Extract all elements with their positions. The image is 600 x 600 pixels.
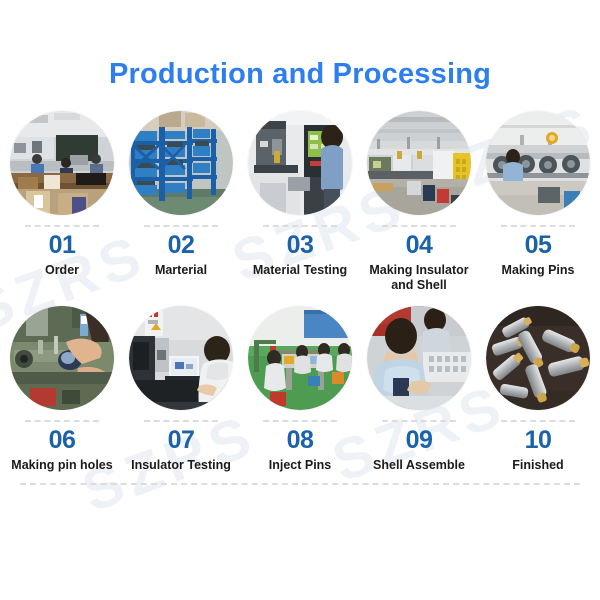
step-label: Order xyxy=(4,263,120,279)
worker-assembling-shells-photo xyxy=(367,306,471,410)
finished-connectors-photo xyxy=(486,306,590,410)
warehouse-blue-racks-photo xyxy=(129,111,233,215)
step-item-05[interactable]: 05 Making Pins xyxy=(480,111,596,294)
bottom-divider xyxy=(20,483,580,485)
office-order-desk-photo xyxy=(10,111,114,215)
step-divider xyxy=(382,420,456,422)
step-divider xyxy=(382,225,456,227)
step-label: Insulator Testing xyxy=(123,458,239,474)
step-number: 06 xyxy=(49,426,76,455)
step-label: Inject Pins xyxy=(242,458,358,474)
cnc-lathe-workshop-photo xyxy=(367,111,471,215)
step-divider xyxy=(25,420,99,422)
step-number: 05 xyxy=(525,231,552,260)
step-number: 02 xyxy=(168,231,195,260)
step-item-07[interactable]: 07 Insulator Testing xyxy=(123,306,239,473)
step-divider xyxy=(144,225,218,227)
step-label: Finished xyxy=(480,458,596,474)
step-item-10[interactable]: 10 Finished xyxy=(480,306,596,473)
page-title: Production and Processing xyxy=(0,0,600,89)
step-divider xyxy=(144,420,218,422)
step-item-03[interactable]: 03 Material Testing xyxy=(242,111,358,294)
step-divider xyxy=(263,225,337,227)
step-label: Making Insulator and Shell xyxy=(361,263,477,294)
assembly-workshop-benches-photo xyxy=(248,306,352,410)
steps-row-2: 06 Making pin holes xyxy=(0,306,600,473)
material-testing-machine-photo xyxy=(248,111,352,215)
step-item-06[interactable]: 06 Making pin holes xyxy=(4,306,120,473)
optical-measuring-computer-photo xyxy=(129,306,233,410)
step-divider xyxy=(501,225,575,227)
step-label: Making Pins xyxy=(480,263,596,279)
step-label: Making pin holes xyxy=(4,458,120,474)
step-item-09[interactable]: 09 Shell Assemble xyxy=(361,306,477,473)
step-divider xyxy=(501,420,575,422)
step-item-02[interactable]: 02 Marterial xyxy=(123,111,239,294)
step-number: 04 xyxy=(406,231,433,260)
step-number: 03 xyxy=(287,231,314,260)
step-number: 10 xyxy=(525,426,552,455)
step-label: Material Testing xyxy=(242,263,358,279)
step-item-08[interactable]: 08 Inject Pins xyxy=(242,306,358,473)
step-item-04[interactable]: 04 Making Insulator and Shell xyxy=(361,111,477,294)
step-divider xyxy=(263,420,337,422)
step-item-01[interactable]: 01 Order xyxy=(4,111,120,294)
production-process-infographic: Production and Processing xyxy=(0,0,600,600)
step-divider xyxy=(25,225,99,227)
step-number: 01 xyxy=(49,231,76,260)
steps-row-1: 01 Order xyxy=(0,111,600,294)
pin-hole-drilling-photo xyxy=(10,306,114,410)
step-label: Shell Assemble xyxy=(361,458,477,474)
pin-machining-line-photo xyxy=(486,111,590,215)
step-number: 09 xyxy=(406,426,433,455)
step-label: Marterial xyxy=(123,263,239,279)
step-number: 07 xyxy=(168,426,195,455)
step-number: 08 xyxy=(287,426,314,455)
